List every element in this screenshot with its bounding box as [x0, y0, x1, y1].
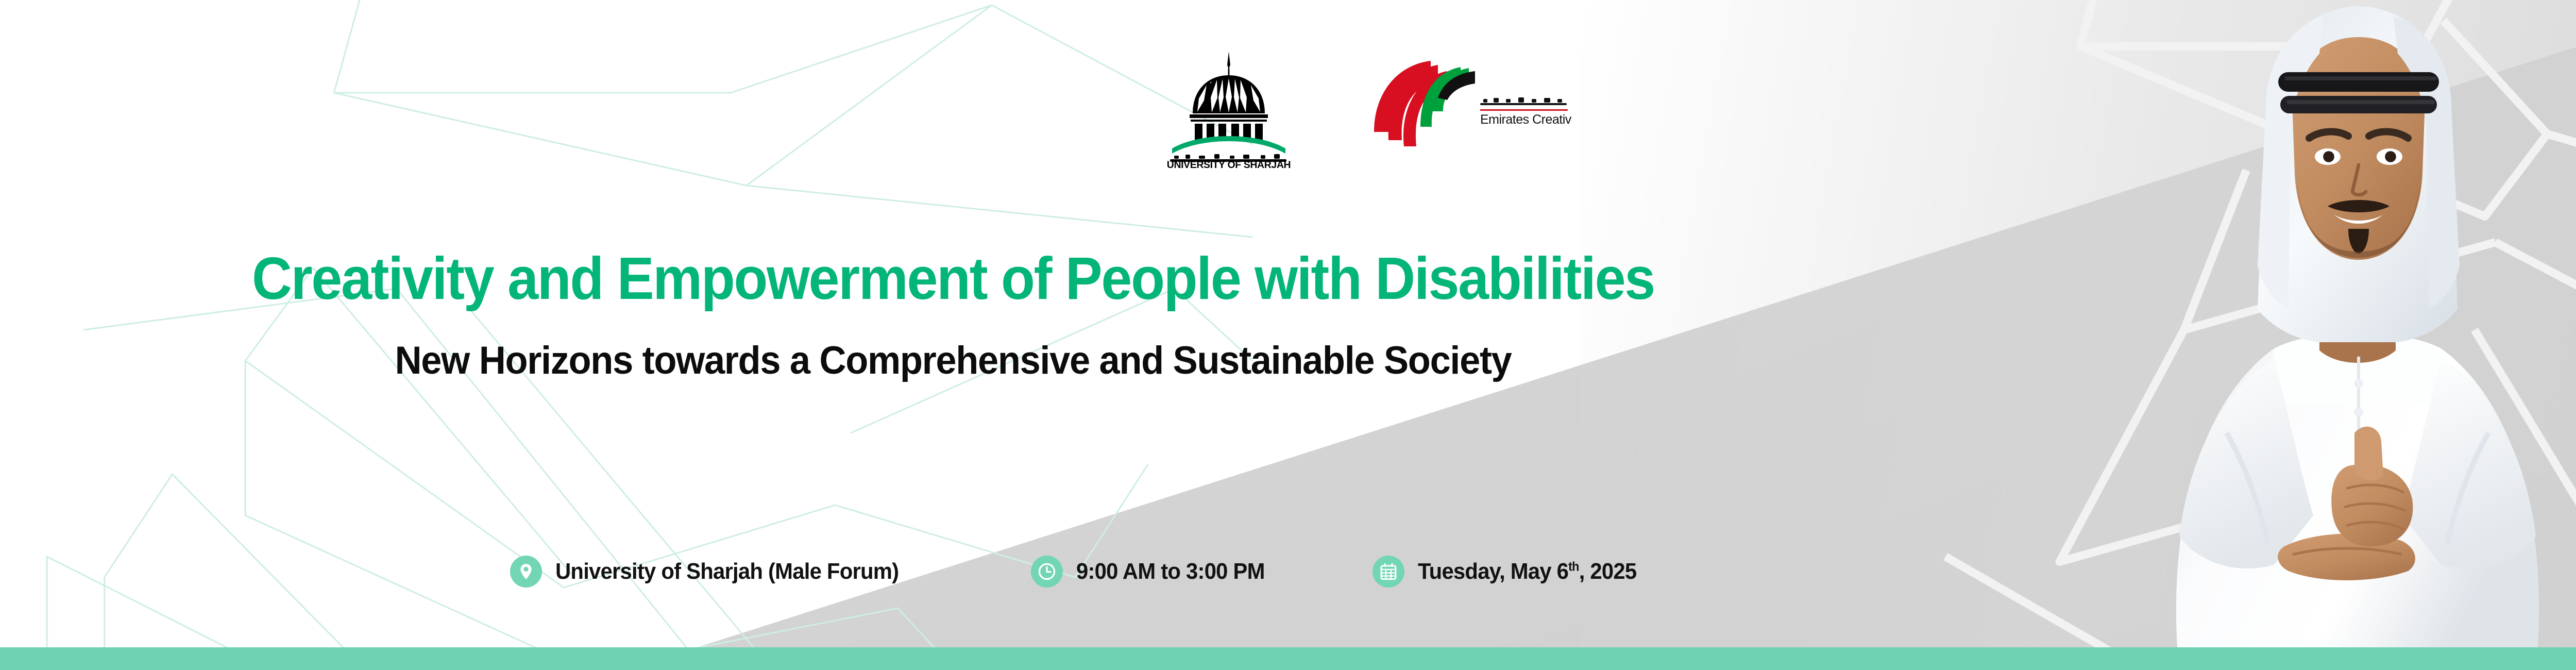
event-location-label: University of Sharjah (Male Forum) — [555, 559, 899, 584]
page-title: Creativity and Empowerment of People wit… — [67, 247, 1840, 310]
headline-block: Creativity and Empowerment of People wit… — [0, 247, 1906, 382]
clock-icon — [1031, 556, 1063, 588]
logo-row: UNIVERSITY OF SHARJAH — [0, 49, 2576, 168]
emirates-creative-association-logo: Emirates Creative Association — [1366, 49, 1572, 147]
bottom-accent-bar — [0, 647, 2576, 670]
page-subtitle: New Horizons towards a Comprehensive and… — [48, 339, 1859, 382]
event-date-main: Tuesday, May 6 — [1418, 559, 1568, 584]
eca-english-name: Emirates Creative Association — [1480, 112, 1572, 127]
event-date-label: Tuesday, May 6th, 2025 — [1418, 559, 1636, 584]
event-date-year: , 2025 — [1579, 559, 1637, 584]
calendar-icon — [1372, 556, 1404, 588]
uos-english-name: UNIVERSITY OF SHARJAH — [1167, 159, 1291, 168]
event-date: Tuesday, May 6th, 2025 — [1372, 556, 1648, 588]
event-details-row: University of Sharjah (Male Forum) 9:00 … — [510, 556, 1648, 588]
event-location: University of Sharjah (Male Forum) — [510, 556, 917, 588]
university-of-sharjah-logo: UNIVERSITY OF SHARJAH — [1151, 49, 1306, 168]
event-banner: UNIVERSITY OF SHARJAH — [0, 0, 2576, 670]
event-time-label: 9:00 AM to 3:00 PM — [1076, 559, 1265, 584]
event-time: 9:00 AM to 3:00 PM — [1031, 556, 1275, 588]
event-date-ordinal: th — [1568, 560, 1579, 574]
location-pin-icon — [510, 556, 542, 588]
